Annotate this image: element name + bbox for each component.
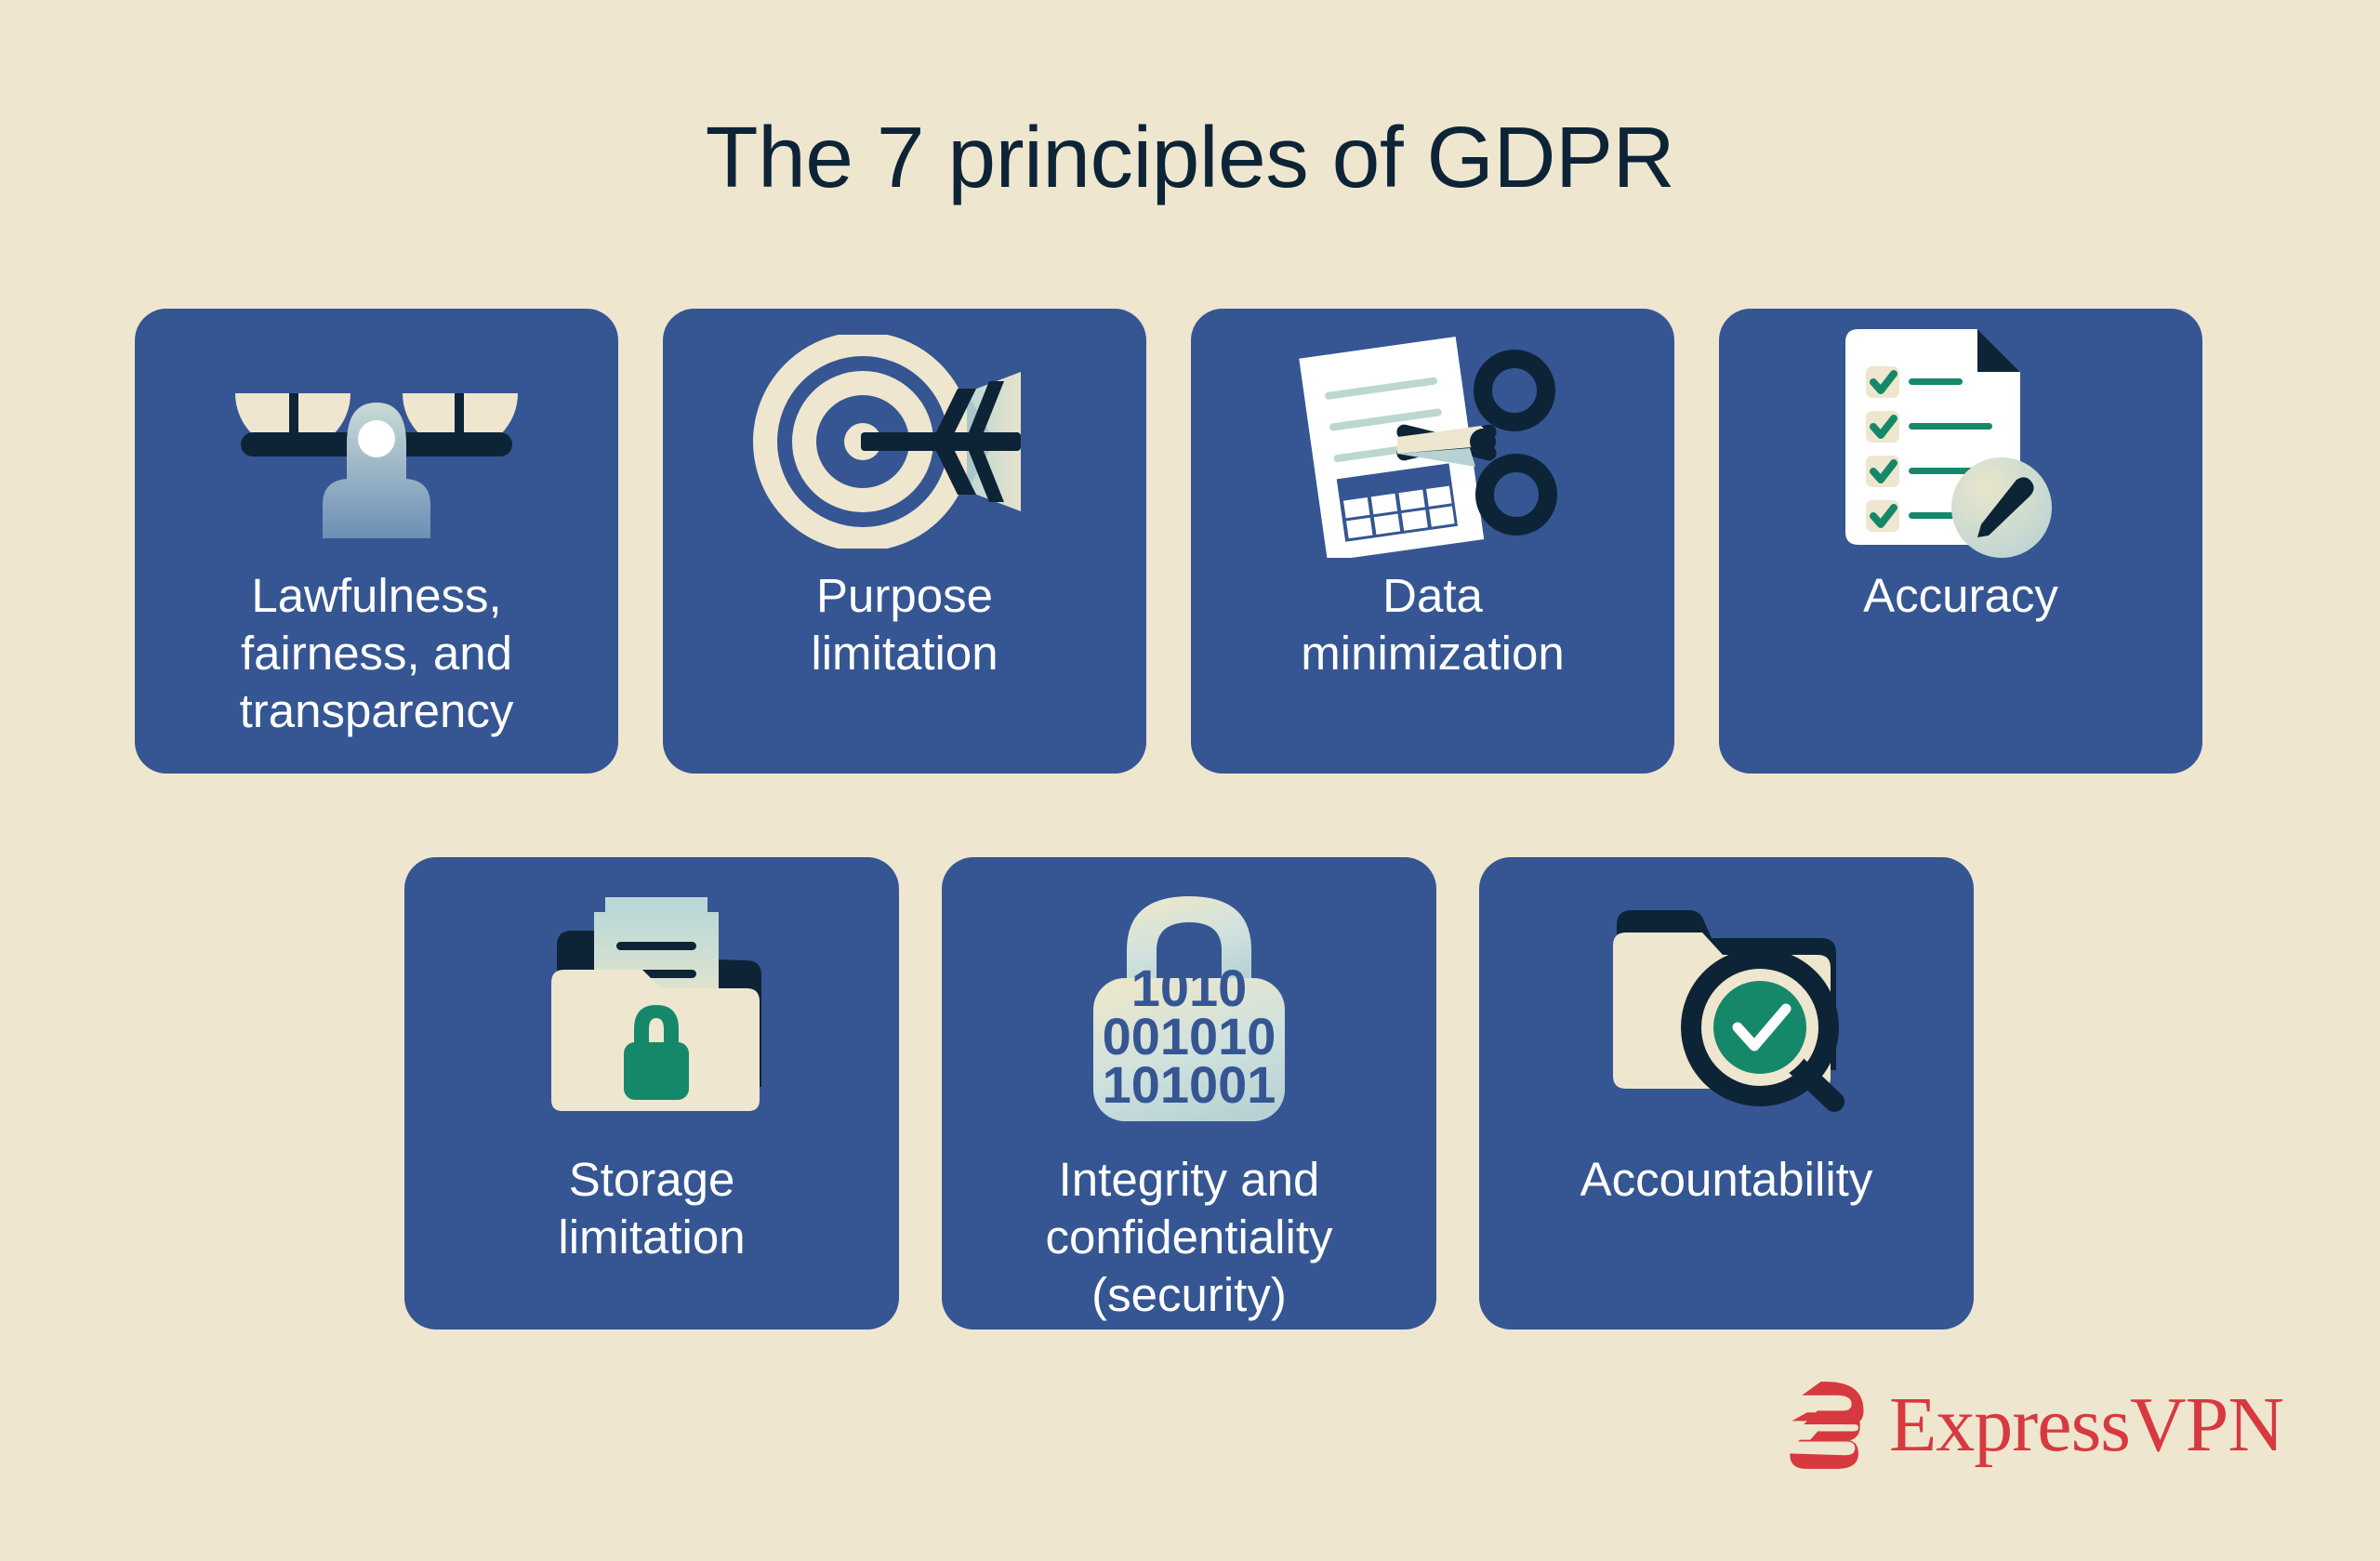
principle-label: Lawfulness, fairness, and transparency bbox=[219, 567, 535, 741]
principle-label: Accuracy bbox=[1843, 567, 2079, 625]
principles-row-2: Storage limitation 1010 bbox=[404, 857, 1976, 1329]
expressvpn-mark-icon bbox=[1783, 1378, 1869, 1473]
folder-lock-icon bbox=[404, 880, 899, 1129]
page-title: The 7 principles of GDPR bbox=[0, 110, 2380, 205]
principle-card-integrity-confidentiality[interactable]: 1010 001010 101001 Integrity and confide… bbox=[942, 857, 1436, 1329]
principle-label: Storage limitation bbox=[537, 1151, 765, 1266]
principle-card-purpose-limitation[interactable]: Purpose limitation bbox=[663, 309, 1146, 774]
principle-card-data-minimization[interactable]: Data minimization bbox=[1191, 309, 1674, 774]
principle-label: Accountability bbox=[1560, 1151, 1894, 1209]
principle-card-accountability[interactable]: Accountability bbox=[1479, 857, 1974, 1329]
principle-card-storage-limitation[interactable]: Storage limitation bbox=[404, 857, 899, 1329]
principle-label: Data minimization bbox=[1280, 567, 1584, 682]
principles-row-1: Lawfulness, fairness, and transparency bbox=[135, 309, 2245, 774]
folder-magnifier-check-icon bbox=[1479, 880, 1974, 1129]
principle-card-accuracy[interactable]: Accuracy bbox=[1719, 309, 2202, 774]
expressvpn-wordmark: ExpressVPN bbox=[1889, 1386, 2283, 1464]
document-scissors-icon bbox=[1191, 325, 1674, 558]
expressvpn-logo[interactable]: ExpressVPN bbox=[1783, 1378, 2283, 1473]
balance-scales-icon bbox=[135, 325, 618, 558]
infographic-page: The 7 principles of GDPR bbox=[0, 0, 2380, 1561]
principle-label: Purpose limitation bbox=[790, 567, 1018, 682]
principle-card-lawfulness[interactable]: Lawfulness, fairness, and transparency bbox=[135, 309, 618, 774]
principle-label: Integrity and confidentiality (security) bbox=[1025, 1151, 1353, 1325]
binary-padlock-icon: 1010 001010 101001 bbox=[942, 880, 1436, 1129]
checklist-pencil-icon bbox=[1719, 325, 2202, 558]
target-arrow-icon bbox=[663, 325, 1146, 558]
